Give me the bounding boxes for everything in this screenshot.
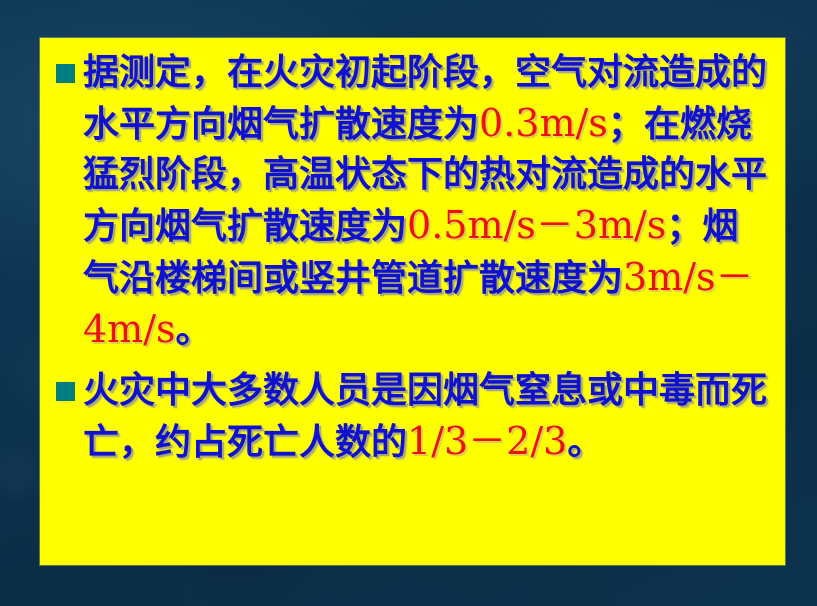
- paragraph-1-separator-1: ；: [608, 103, 644, 145]
- square-bullet-icon: [56, 382, 75, 401]
- bullet-paragraph-2: 火灾中大多数人员是因烟气窒息或中毒而死亡，约占死亡人数的1/3－2/3。: [83, 366, 771, 468]
- slide-canvas: 据测定，在火灾初起阶段，空气对流造成的水平方向烟气扩散速度为0.3m/s；在燃烧…: [0, 0, 817, 606]
- paragraph-1-value-1: 0.3m/s: [479, 101, 608, 145]
- bullet-item-1: 据测定，在火灾初起阶段，空气对流造成的水平方向烟气扩散速度为0.3m/s；在燃烧…: [50, 48, 771, 356]
- paragraph-1-separator-2: ；: [666, 205, 702, 247]
- bullet-item-2: 火灾中大多数人员是因烟气窒息或中毒而死亡，约占死亡人数的1/3－2/3。: [50, 366, 771, 468]
- bullet-paragraph-1: 据测定，在火灾初起阶段，空气对流造成的水平方向烟气扩散速度为0.3m/s；在燃烧…: [83, 48, 771, 356]
- paragraph-1-end-punctuation: 。: [176, 310, 212, 351]
- paragraph-2-end-punctuation: 。: [567, 422, 603, 463]
- square-bullet-icon: [56, 64, 75, 83]
- paragraph-2-value-1: 1/3－2/3: [407, 419, 567, 463]
- paragraph-1-value-2: 0.5m/s－3m/s: [407, 203, 666, 247]
- content-card: 据测定，在火灾初起阶段，空气对流造成的水平方向烟气扩散速度为0.3m/s；在燃烧…: [40, 38, 785, 565]
